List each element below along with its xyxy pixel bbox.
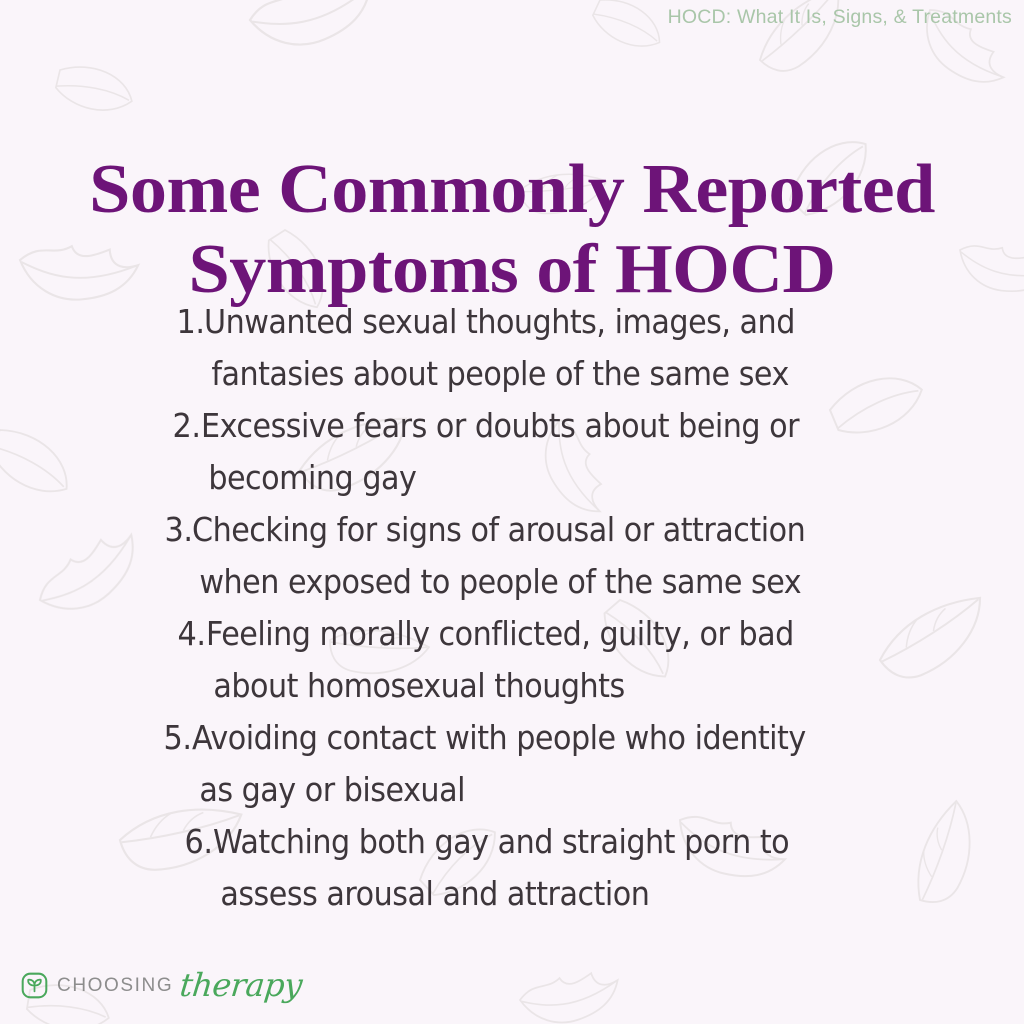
logo-word-therapy: therapy <box>179 972 304 999</box>
list-item-number: 3. <box>164 504 192 556</box>
list-item-line: Excessive fears or doubts about being or <box>201 400 799 452</box>
list-item: 2. Excessive fears or doubts about being… <box>0 400 1024 504</box>
list-item-line: assess arousal and attraction <box>213 868 789 920</box>
list-item: 4. Feeling morally conflicted, guilty, o… <box>0 608 1024 712</box>
list-item: 3. Checking for signs of arousal or attr… <box>0 504 1024 608</box>
logo-word-choosing: CHOOSING <box>57 972 173 999</box>
symptom-list: 1. Unwanted sexual thoughts, images, and… <box>0 296 1024 920</box>
list-item-text: Unwanted sexual thoughts, images, and fa… <box>204 296 795 400</box>
list-item-line: Feeling morally conflicted, guilty, or b… <box>206 608 794 660</box>
list-item-line: Watching both gay and straight porn to <box>213 816 789 868</box>
list-item-number: 2. <box>172 400 200 452</box>
article-title-label: HOCD: What It Is, Signs, & Treatments <box>668 6 1012 29</box>
list-item-line: becoming gay <box>201 452 799 504</box>
choosing-therapy-logo[interactable]: CHOOSING therapy <box>21 972 302 999</box>
list-item-text: Avoiding contact with people who identit… <box>192 712 806 816</box>
list-item-line: fantasies about people of the same sex <box>204 348 795 400</box>
page-title: Some Commonly Reported Symptoms of HOCD <box>0 150 1024 310</box>
list-item-number: 6. <box>184 816 212 868</box>
list-item: 5. Avoiding contact with people who iden… <box>0 712 1024 816</box>
list-item-line: about homosexual thoughts <box>206 660 794 712</box>
list-item-text: Excessive fears or doubts about being or… <box>201 400 799 504</box>
list-item-number: 4. <box>178 608 206 660</box>
list-item-line: as gay or bisexual <box>192 764 806 816</box>
list-item-number: 1. <box>176 296 204 348</box>
list-item-text: Feeling morally conflicted, guilty, or b… <box>206 608 794 712</box>
list-item-line: Checking for signs of arousal or attract… <box>192 504 805 556</box>
list-item-text: Watching both gay and straight porn to a… <box>213 816 789 920</box>
list-item: 6. Watching both gay and straight porn t… <box>0 816 1024 920</box>
list-item-line: Avoiding contact with people who identit… <box>192 712 806 764</box>
list-item-line: Unwanted sexual thoughts, images, and <box>204 296 795 348</box>
page-title-line-1: Some Commonly Reported <box>0 150 1024 230</box>
leaf-plant-icon <box>21 972 48 999</box>
list-item-line: when exposed to people of the same sex <box>192 556 805 608</box>
list-item-text: Checking for signs of arousal or attract… <box>192 504 805 608</box>
list-item: 1. Unwanted sexual thoughts, images, and… <box>0 296 1024 400</box>
list-item-number: 5. <box>164 712 192 764</box>
infographic-canvas: HOCD: What It Is, Signs, & Treatments So… <box>0 0 1024 1024</box>
